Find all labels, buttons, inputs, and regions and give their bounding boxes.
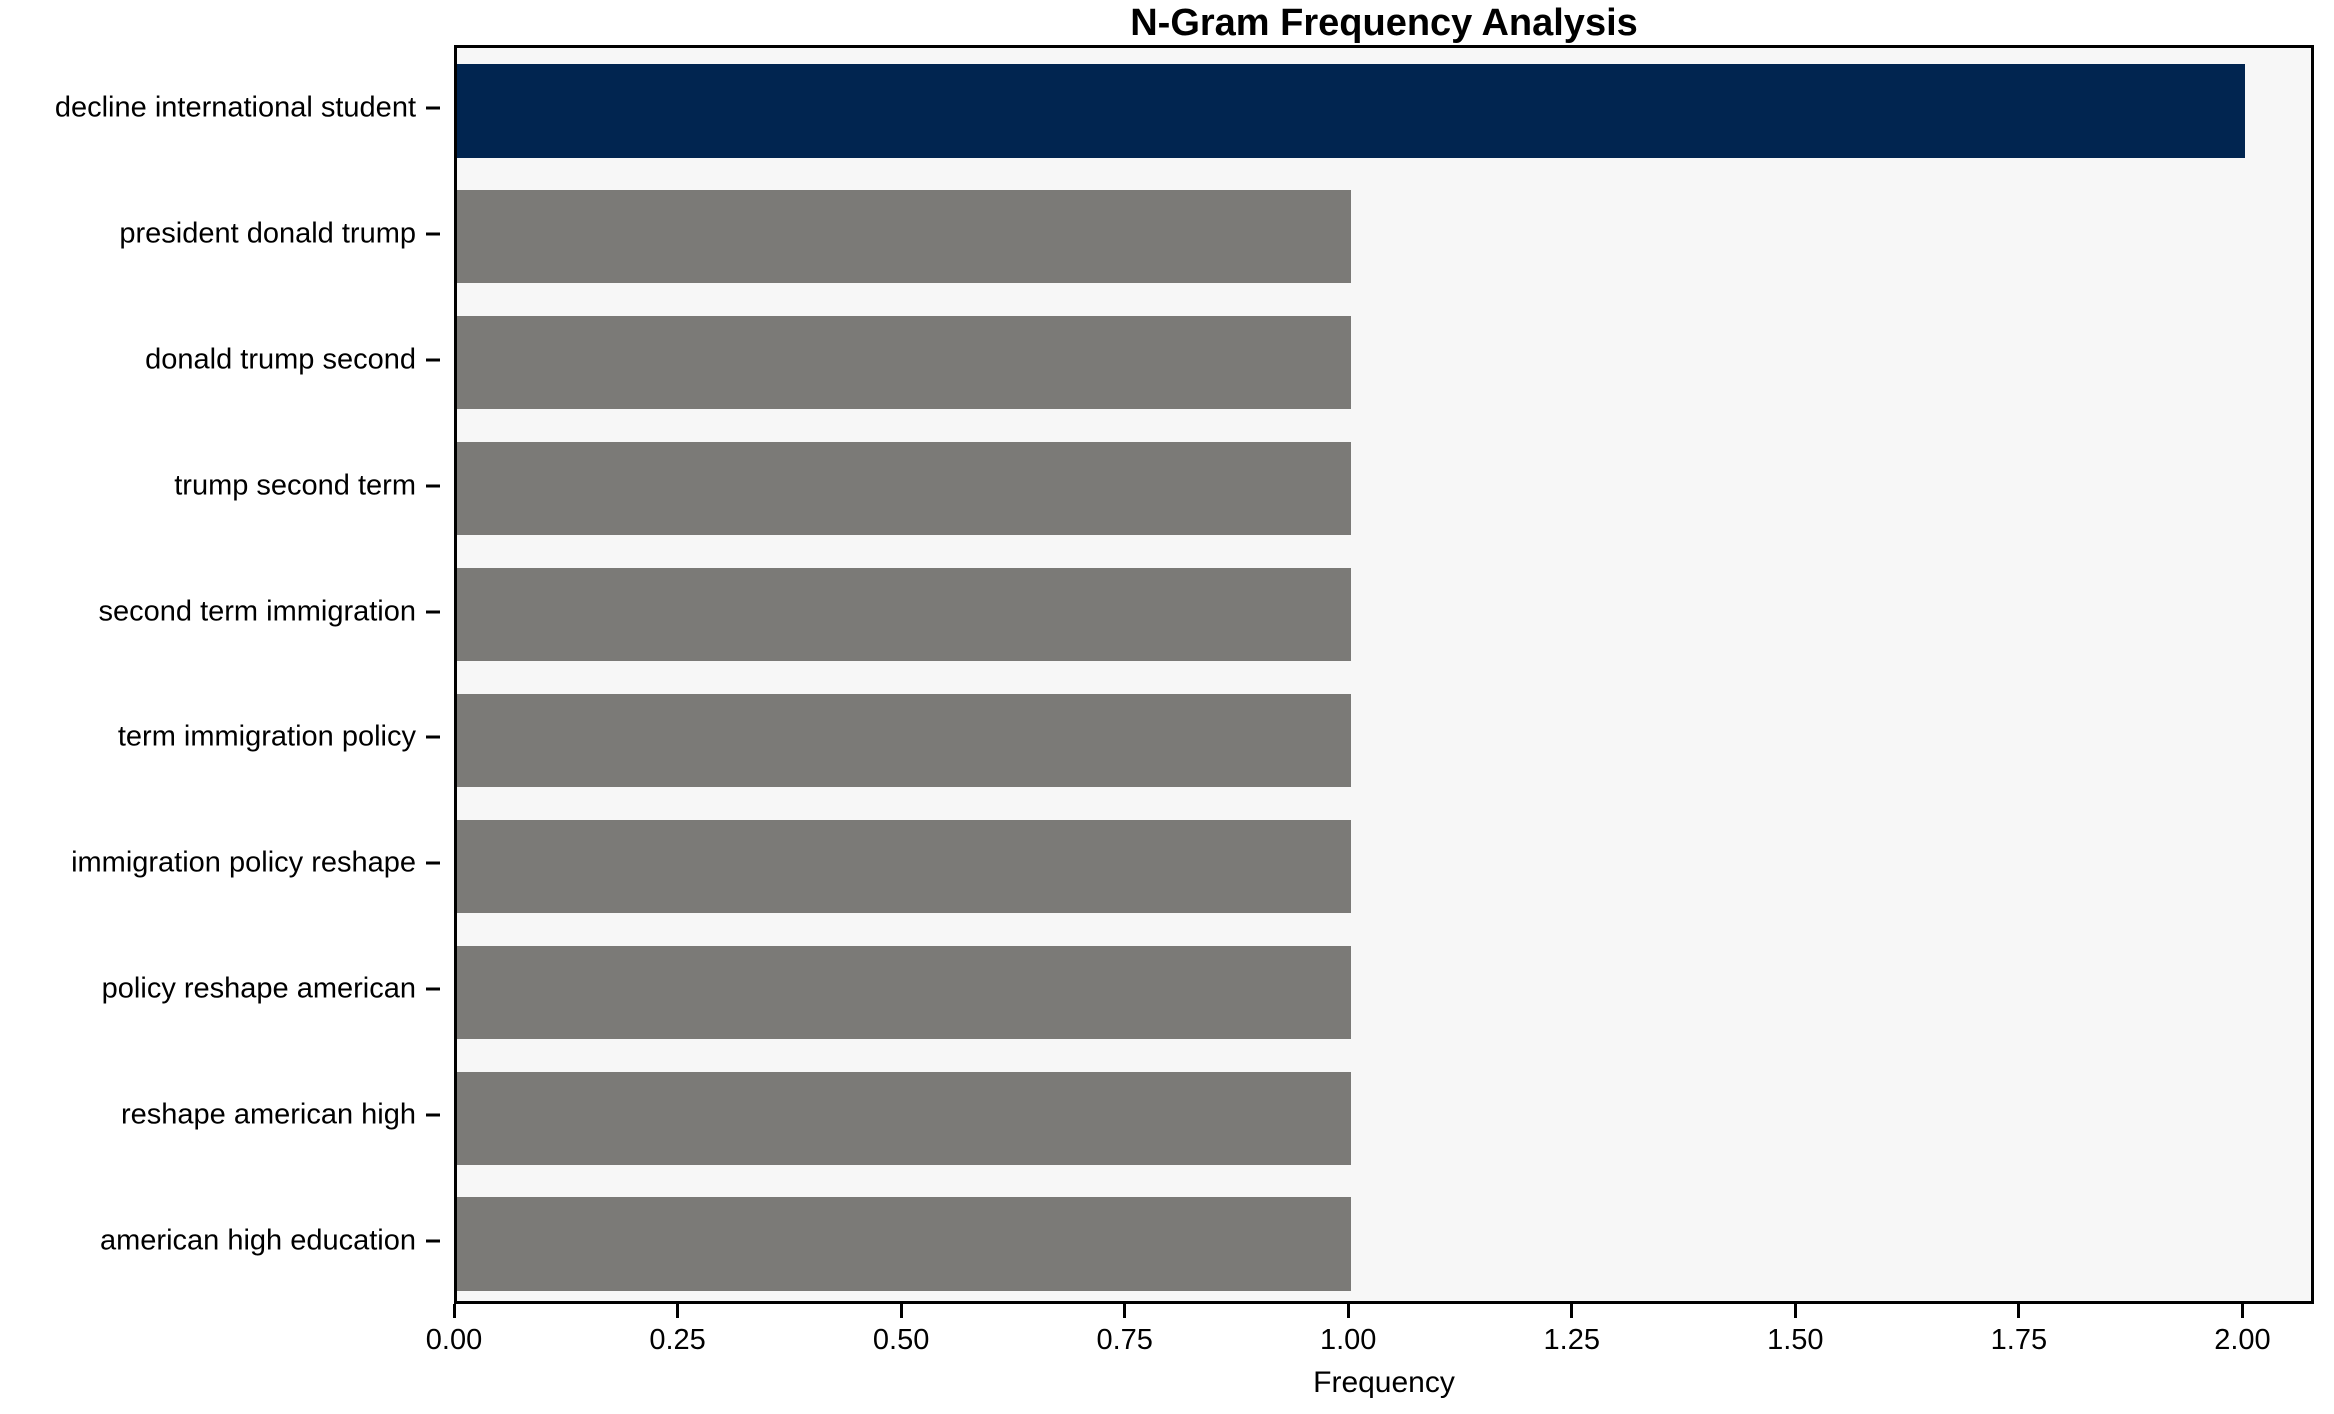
y-tick-mark (426, 862, 440, 865)
y-tick-label: term immigration policy (118, 721, 416, 754)
y-tick-label: donald trump second (145, 343, 416, 376)
x-tick-mark (453, 1304, 456, 1318)
x-tick-label: 0.50 (873, 1324, 929, 1357)
y-tick-mark (426, 358, 440, 361)
chart-title: N-Gram Frequency Analysis (454, 2, 2314, 44)
x-tick-mark (900, 1304, 903, 1318)
y-tick-mark (426, 484, 440, 487)
bar (457, 190, 1351, 283)
y-tick-label: second term immigration (99, 595, 417, 628)
y-tick-mark (426, 1240, 440, 1243)
y-tick-mark (426, 610, 440, 613)
bar (457, 64, 2245, 157)
chart-figure: N-Gram Frequency Analysis decline intern… (0, 0, 2334, 1414)
x-tick-mark (1347, 1304, 1350, 1318)
x-tick-label: 1.75 (1991, 1324, 2047, 1357)
bar (457, 1072, 1351, 1165)
x-tick-mark (1123, 1304, 1126, 1318)
x-tick-label: 0.75 (1096, 1324, 1152, 1357)
bar (457, 1197, 1351, 1290)
bar (457, 568, 1351, 661)
y-tick-mark (426, 736, 440, 739)
x-tick-mark (676, 1304, 679, 1318)
bar (457, 694, 1351, 787)
x-tick-label: 1.25 (1544, 1324, 1600, 1357)
y-tick-mark (426, 1114, 440, 1117)
x-tick-label: 0.25 (649, 1324, 705, 1357)
y-axis: decline international studentpresident d… (0, 45, 440, 1304)
x-axis-title: Frequency (454, 1366, 2314, 1400)
bar (457, 820, 1351, 913)
plot-area (454, 45, 2314, 1304)
x-axis: Frequency 0.000.250.500.751.001.251.501.… (454, 1304, 2314, 1414)
bar (457, 946, 1351, 1039)
x-tick-label: 1.50 (1767, 1324, 1823, 1357)
y-tick-label: president donald trump (119, 217, 416, 250)
y-tick-label: policy reshape american (102, 973, 416, 1006)
x-tick-label: 1.00 (1320, 1324, 1376, 1357)
y-tick-mark (426, 106, 440, 109)
y-tick-label: immigration policy reshape (71, 847, 416, 880)
x-tick-mark (2017, 1304, 2020, 1318)
x-tick-mark (1794, 1304, 1797, 1318)
y-tick-label: decline international student (55, 91, 416, 124)
y-tick-label: reshape american high (121, 1099, 416, 1132)
x-tick-label: 2.00 (2214, 1324, 2270, 1357)
x-tick-mark (1570, 1304, 1573, 1318)
bar (457, 442, 1351, 535)
y-tick-mark (426, 988, 440, 991)
x-tick-mark (2241, 1304, 2244, 1318)
y-tick-label: trump second term (174, 469, 416, 502)
y-tick-mark (426, 232, 440, 235)
bar (457, 316, 1351, 409)
x-tick-label: 0.00 (426, 1324, 482, 1357)
bars-layer (457, 48, 2311, 1301)
y-tick-label: american high education (100, 1225, 416, 1258)
